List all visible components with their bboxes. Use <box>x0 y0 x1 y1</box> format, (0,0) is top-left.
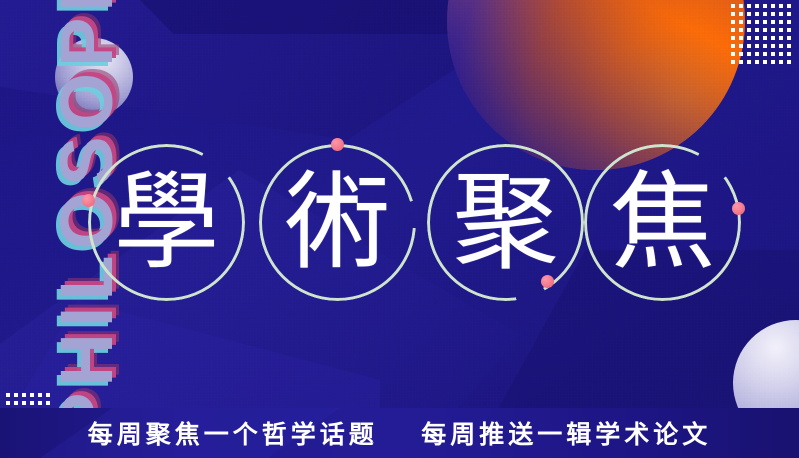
headline-char-3: 聚 <box>427 144 584 301</box>
headline-glyph-1: 學 <box>88 144 245 301</box>
tagline-right: 每周推送一辑学术论文 <box>421 420 711 449</box>
headline-glyph-2: 術 <box>259 144 416 301</box>
headline-char-4: 焦 <box>584 144 741 301</box>
tagline-left: 每周聚焦一个哲学话题 <box>88 420 378 449</box>
accent-dot-2-icon <box>331 138 344 151</box>
headline-glyph-4: 焦 <box>584 144 741 301</box>
headline-char-1: 學 <box>88 144 245 301</box>
accent-dot-4-icon <box>732 202 745 215</box>
headline-char-2: 術 <box>259 144 416 301</box>
headline-glyph-3: 聚 <box>427 144 584 301</box>
headline-circle-row: 學 術 聚 焦 <box>0 0 799 458</box>
accent-dot-1-icon <box>82 194 95 207</box>
poster-canvas: PHILOSOPHY 學 術 聚 焦 每周聚焦一个哲学话题 每周推送 <box>0 0 799 458</box>
accent-dot-3-icon <box>541 275 554 288</box>
tagline: 每周聚焦一个哲学话题 每周推送一辑学术论文 <box>0 417 799 452</box>
